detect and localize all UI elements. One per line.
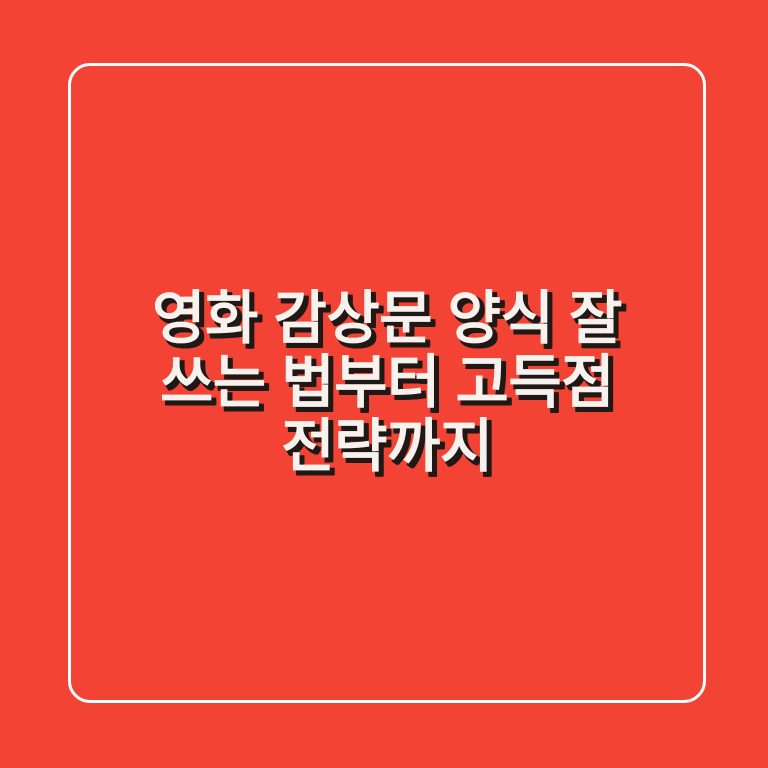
thumbnail-card: 영화 감상문 양식 잘 쓰는 법부터 고득점 전략까지 [0, 0, 768, 768]
headline-line-1: 영화 감상문 양식 잘 [94, 287, 680, 351]
headline-block: 영화 감상문 양식 잘 쓰는 법부터 고득점 전략까지 [68, 63, 706, 703]
headline-line-2: 쓰는 법부터 고득점 [94, 351, 680, 415]
headline-line-3: 전략까지 [94, 415, 680, 479]
